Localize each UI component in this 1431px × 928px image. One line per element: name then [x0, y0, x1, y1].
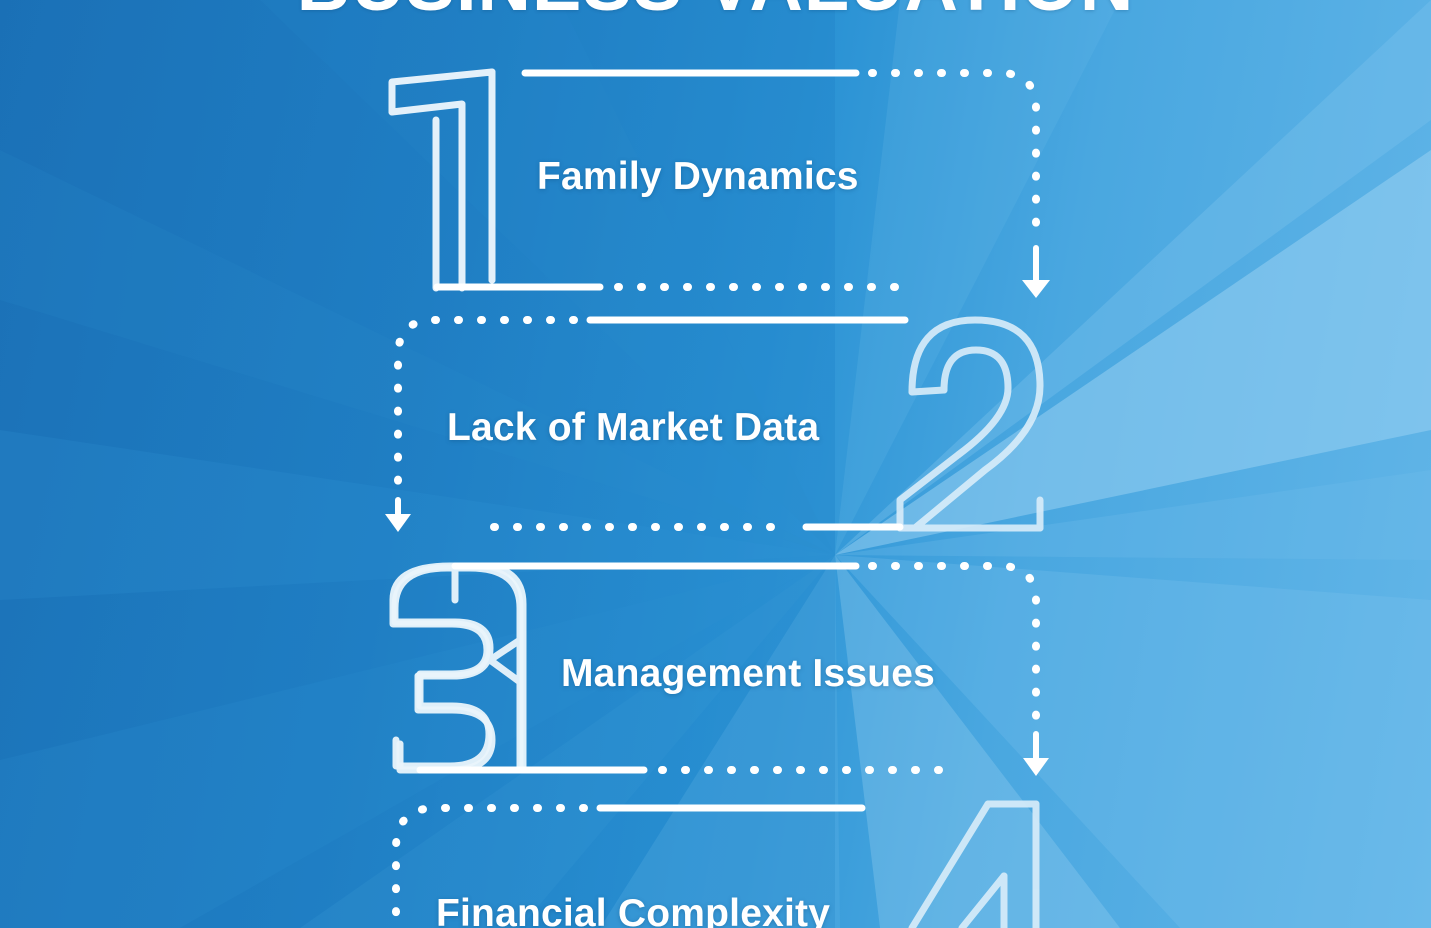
step-1-arrow-head [1022, 280, 1050, 298]
step-2-numeral [900, 320, 1040, 528]
step-3-dotted-path [872, 566, 1036, 722]
step-3-numeral [395, 568, 520, 770]
step-3-arrow-head [1023, 758, 1049, 776]
step-2-label: Lack of Market Data [447, 406, 819, 450]
step-1-dotted-path [872, 73, 1036, 236]
step-1-label: Family Dynamics [537, 155, 859, 199]
step-4-label: Financial Complexity [436, 892, 830, 928]
step-1-numeral [392, 72, 492, 288]
flow-diagram [0, 0, 1431, 928]
step-3-label: Management Issues [561, 652, 935, 696]
infographic-canvas: BUSINESS VALUATION [0, 0, 1431, 928]
step-2-arrow-head [385, 514, 411, 532]
step-4-numeral [912, 804, 1036, 928]
step-2-dotted-path [398, 320, 574, 490]
